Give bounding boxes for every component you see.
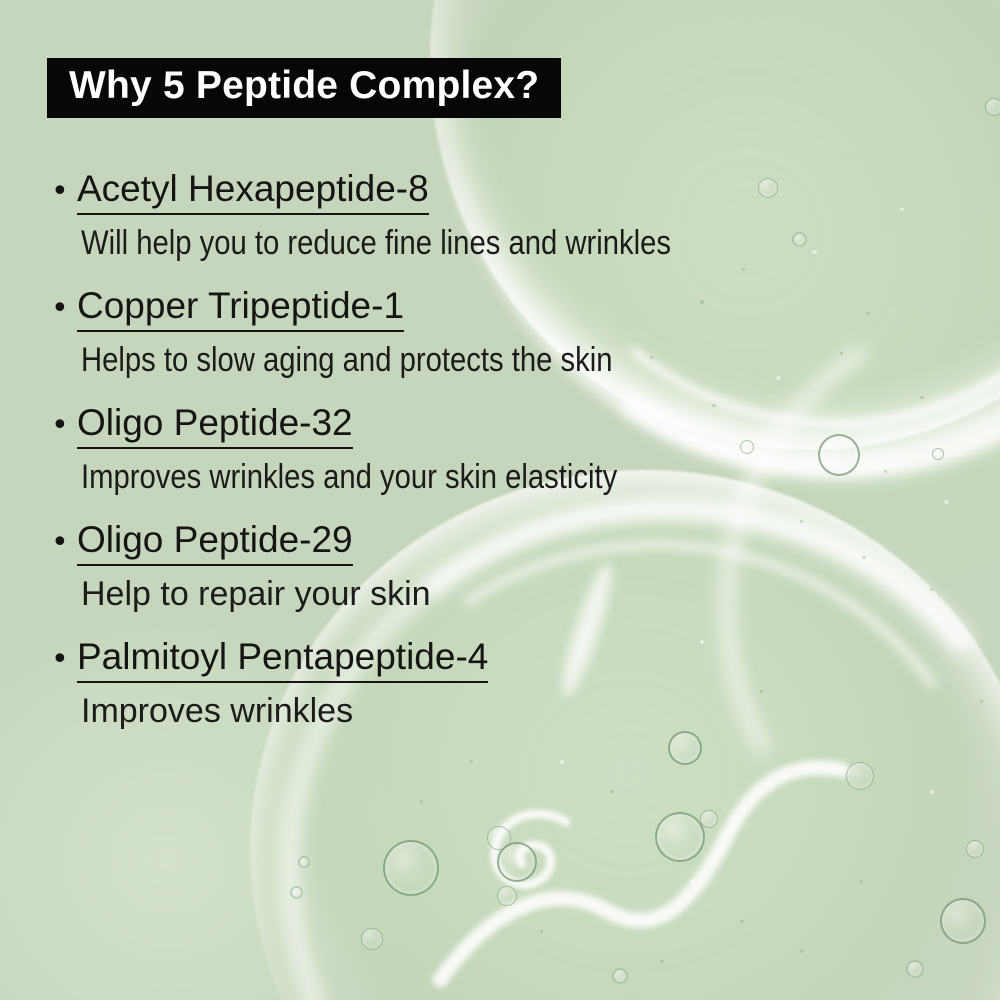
peptide-name: Palmitoyl Pentapeptide-4	[77, 634, 488, 683]
peptide-name: Oligo Peptide-32	[77, 400, 353, 449]
peptide-name: Acetyl Hexapeptide-8	[77, 166, 429, 215]
list-item: • Oligo Peptide-32 Improves wrinkles and…	[47, 400, 977, 499]
list-item-header: • Acetyl Hexapeptide-8	[47, 166, 977, 215]
bullet-icon: •	[47, 169, 77, 215]
peptide-benefit: Help to repair your skin	[81, 572, 977, 616]
peptide-benefits-poster: Why 5 Peptide Complex? • Acetyl Hexapept…	[0, 0, 1000, 1000]
list-item: • Copper Tripeptide-1 Helps to slow agin…	[47, 283, 977, 382]
list-item: • Palmitoyl Pentapeptide-4 Improves wrin…	[47, 634, 977, 733]
peptide-name: Copper Tripeptide-1	[77, 283, 404, 332]
peptide-benefit: Improves wrinkles and your skin elastici…	[81, 455, 852, 499]
page-title: Why 5 Peptide Complex?	[69, 64, 539, 108]
list-item: • Oligo Peptide-29 Help to repair your s…	[47, 517, 977, 616]
peptide-name: Oligo Peptide-29	[77, 517, 353, 566]
bullet-icon: •	[47, 637, 77, 683]
peptide-list: • Acetyl Hexapeptide-8 Will help you to …	[47, 166, 977, 751]
peptide-benefit: Improves wrinkles	[81, 689, 977, 733]
bullet-icon: •	[47, 520, 77, 566]
bullet-icon: •	[47, 403, 77, 449]
title-banner: Why 5 Peptide Complex?	[47, 58, 561, 118]
peptide-benefit: Helps to slow aging and protects the ski…	[81, 338, 852, 382]
list-item-header: • Oligo Peptide-32	[47, 400, 977, 449]
list-item: • Acetyl Hexapeptide-8 Will help you to …	[47, 166, 977, 265]
poster-content: Why 5 Peptide Complex? • Acetyl Hexapept…	[0, 0, 1000, 1000]
list-item-header: • Palmitoyl Pentapeptide-4	[47, 634, 977, 683]
bullet-icon: •	[47, 286, 77, 332]
list-item-header: • Oligo Peptide-29	[47, 517, 977, 566]
list-item-header: • Copper Tripeptide-1	[47, 283, 977, 332]
peptide-benefit: Will help you to reduce fine lines and w…	[81, 221, 852, 265]
